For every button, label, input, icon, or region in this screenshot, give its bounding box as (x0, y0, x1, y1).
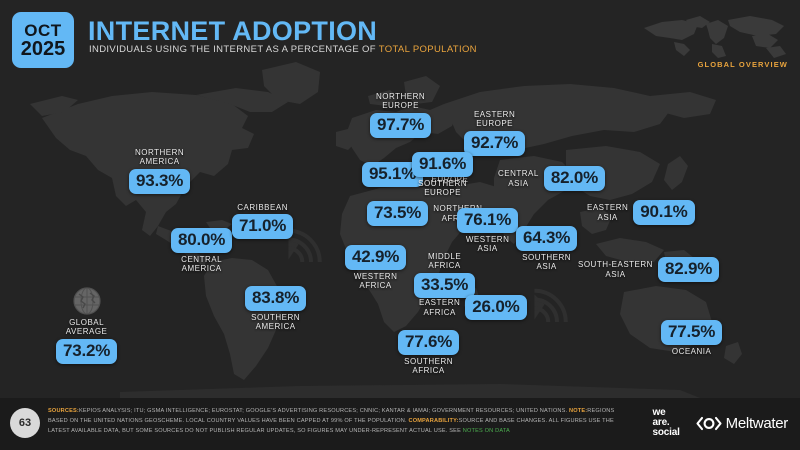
region-value: 42.9% (345, 245, 406, 270)
region-value: 80.0% (171, 228, 232, 253)
global-average-value: 73.2% (56, 339, 117, 364)
region-value: 82.9% (658, 257, 719, 282)
region-label-line1: SOUTHERN (418, 179, 467, 188)
region-value: 90.1% (633, 200, 694, 225)
region-label-line2: AFRICA (354, 281, 398, 290)
meltwater-wordmark: Meltwater (726, 415, 788, 432)
subtitle-text: INDIVIDUALS USING THE INTERNET AS A PERC… (89, 44, 379, 55)
date-badge: OCT 2025 (12, 12, 74, 68)
region-label: EASTERNEUROPE (474, 110, 515, 129)
global-overview-label: GLOBAL OVERVIEW (698, 60, 788, 69)
region-label: SOUTHERNEUROPE (418, 179, 467, 198)
region-callout: 77.6%SOUTHERNAFRICA (398, 330, 459, 376)
region-value: 26.0% (465, 295, 526, 320)
region-callout: 83.8%SOUTHERNAMERICA (245, 286, 306, 332)
region-label-line2: AFRICA (419, 308, 460, 317)
region-callout: 26.0%EASTERNAFRICA (419, 295, 527, 320)
global-average-label: GLOBAL AVERAGE (66, 318, 108, 337)
region-label-line2: ASIA (578, 270, 653, 279)
region-label: EASTERNASIA (587, 203, 628, 222)
region-value: 93.3% (129, 169, 190, 194)
region-label-line1: OCEANIA (672, 347, 712, 356)
region-value: 76.1% (457, 208, 518, 233)
region-label: SOUTHERNAMERICA (251, 313, 300, 332)
region-label-line1: SOUTHERN (404, 357, 453, 366)
region-callout: 64.3%SOUTHERNASIA (516, 226, 577, 272)
region-label: NORTHERNAMERICA (135, 148, 184, 167)
header: OCT 2025 INTERNET ADOPTION INDIVIDUALS U… (0, 0, 800, 86)
region-label-line1: NORTHERN (135, 148, 184, 157)
global-average-block: GLOBAL AVERAGE 73.2% (56, 286, 117, 364)
region-value: 82.0% (544, 166, 605, 191)
date-year: 2025 (21, 39, 66, 59)
region-value: 83.8% (245, 286, 306, 311)
region-value: 71.0% (232, 214, 293, 239)
region-label-line1: NORTHERN (376, 92, 425, 101)
globe-icon (72, 286, 102, 316)
region-label-line2: ASIA (587, 213, 628, 222)
region-label-line1: EASTERN (474, 110, 515, 119)
region-value: 77.6% (398, 330, 459, 355)
region-callout: NORTHERNEUROPE97.7% (370, 92, 431, 138)
footnotes: SOURCES:KEPIOS ANALYSIS; ITU; GSMA INTEL… (48, 407, 628, 436)
global-average-label-line1: GLOBAL (66, 318, 108, 327)
region-label-line2: EUROPE (418, 188, 467, 197)
region-label: OCEANIA (672, 347, 712, 356)
region-label: SOUTHERNASIA (522, 253, 571, 272)
region-label-line1: WESTERN (354, 272, 398, 281)
logos: we are. social Meltwater (653, 408, 788, 438)
region-label-line2: AMERICA (251, 322, 300, 331)
region-label-line1: CENTRAL (498, 169, 539, 178)
region-callout: 76.1%WESTERNASIA (457, 208, 518, 254)
comparability-label: COMPARABILITY: (408, 418, 458, 424)
sources-text: KEPIOS ANALYSIS; ITU; GSMA INTELLIGENCE;… (79, 408, 569, 414)
region-callout: 42.9%WESTERNAFRICA (345, 245, 406, 291)
region-label-line2: AFRICA (428, 261, 461, 270)
region-label-line2: EUROPE (376, 101, 425, 110)
region-label-line1: CARIBBEAN (237, 203, 288, 212)
region-label: CENTRALASIA (498, 169, 539, 188)
region-label-line1: CENTRAL (181, 255, 222, 264)
region-callout: MIDDLEAFRICA33.5% (414, 252, 475, 298)
region-label-line1: WESTERN (466, 235, 510, 244)
region-callout: 90.1%EASTERNASIA (587, 200, 695, 225)
meltwater-mark-icon (696, 416, 722, 431)
notes-on-data-link[interactable]: NOTES ON DATA (463, 428, 510, 434)
region-label-line2: AMERICA (135, 157, 184, 166)
region-label: SOUTHERNAFRICA (404, 357, 453, 376)
region-callout: 82.0%CENTRALASIA (498, 166, 605, 191)
region-label: CARIBBEAN (237, 203, 288, 212)
region-label: CENTRALAMERICA (181, 255, 222, 274)
region-label-line2: AMERICA (181, 264, 222, 273)
region-label: EASTERNAFRICA (419, 298, 460, 317)
was-logo-line3: social (653, 428, 680, 438)
region-label-line2: EUROPE (474, 119, 515, 128)
region-label: NORTHERNEUROPE (376, 92, 425, 111)
region-label-line1: EASTERN (419, 298, 460, 307)
region-label-line2: ASIA (522, 262, 571, 271)
sources-label: SOURCES: (48, 408, 79, 414)
region-label-line1: SOUTH-EASTERN (578, 260, 653, 269)
region-label-line2: ASIA (498, 179, 539, 188)
meltwater-logo: Meltwater (696, 415, 788, 432)
note-label: NOTE: (569, 408, 587, 414)
region-value: 64.3% (516, 226, 577, 251)
global-average-label-line2: AVERAGE (66, 327, 108, 336)
region-label-line1: EASTERN (587, 203, 628, 212)
region-callout: 82.9%SOUTH-EASTERNASIA (578, 257, 719, 282)
region-callout: 80.0%CENTRALAMERICA (171, 228, 232, 274)
we-are-social-logo: we are. social (653, 408, 680, 438)
footer: 63 SOURCES:KEPIOS ANALYSIS; ITU; GSMA IN… (0, 398, 800, 450)
region-callout: CARIBBEAN71.0% (232, 203, 293, 239)
region-label: SOUTH-EASTERNASIA (578, 260, 653, 279)
region-callout: NORTHERNAMERICA93.3% (129, 148, 190, 194)
region-value: 97.7% (370, 113, 431, 138)
corner-world-map-icon (640, 14, 790, 60)
date-month: OCT (24, 22, 61, 39)
page-subtitle: INDIVIDUALS USING THE INTERNET AS A PERC… (89, 44, 477, 55)
region-value: 73.5% (367, 201, 428, 226)
region-label: WESTERNAFRICA (354, 272, 398, 291)
region-label-line2: AFRICA (404, 366, 453, 375)
page-number: 63 (10, 408, 40, 438)
region-label: MIDDLEAFRICA (428, 252, 461, 271)
page-title: INTERNET ADOPTION (88, 16, 377, 47)
subtitle-highlight: TOTAL POPULATION (379, 44, 477, 55)
region-value: 77.5% (661, 320, 722, 345)
region-value: 91.6% (412, 152, 473, 177)
region-label-line1: MIDDLE (428, 252, 461, 261)
region-callout: 77.5%OCEANIA (661, 320, 722, 356)
region-label-line1: SOUTHERN (251, 313, 300, 322)
region-label-line1: SOUTHERN (522, 253, 571, 262)
region-callout: 91.6%SOUTHERNEUROPE (412, 152, 473, 198)
region-callout: EASTERNEUROPE92.7% (464, 110, 525, 156)
